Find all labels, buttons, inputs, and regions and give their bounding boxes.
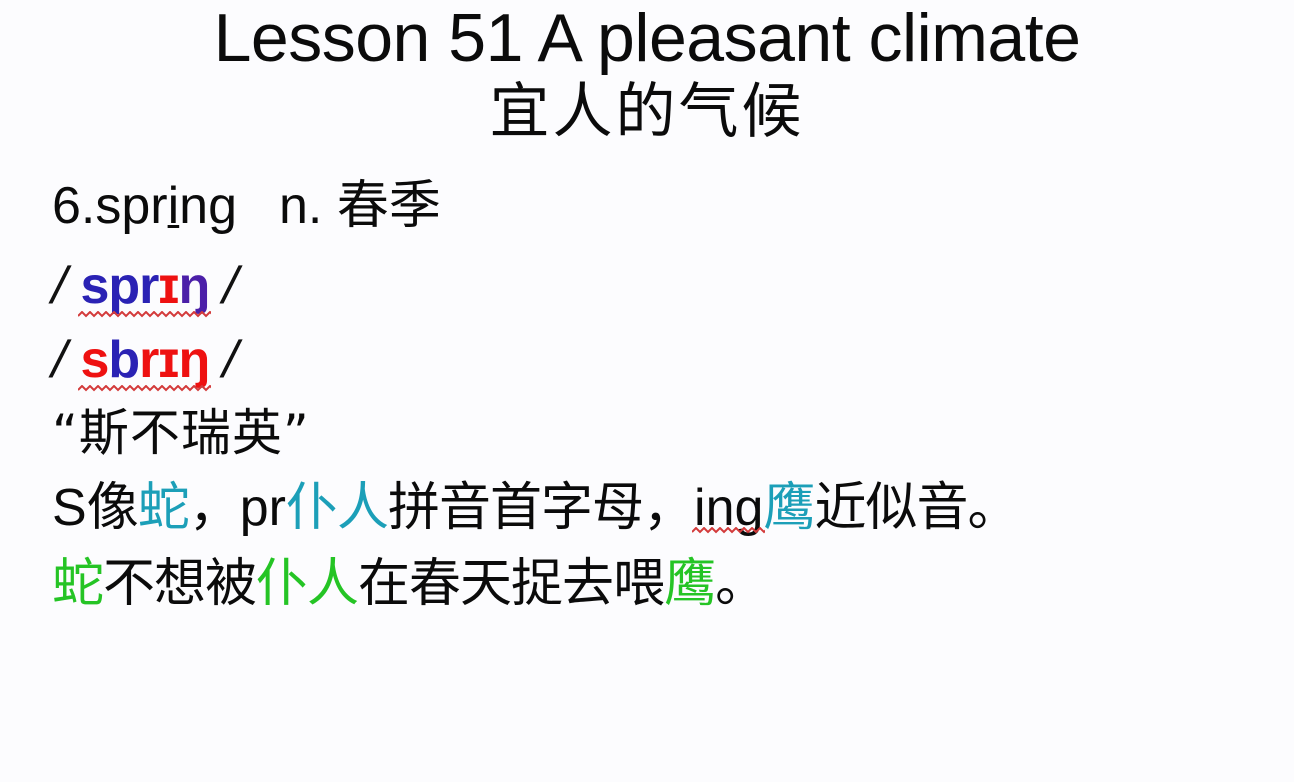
entry-definition-chinese: 春季 <box>337 176 441 236</box>
story-highlight-eagle: 鹰 <box>664 554 715 614</box>
story-period: 。 <box>715 554 766 614</box>
ipa-alt-open-slash: / <box>51 334 67 386</box>
mnemonic-text-pinyin-initials: 拼音首字母， <box>388 478 694 538</box>
mnemonic-highlight-snake: 蛇 <box>138 478 189 538</box>
story-text-2: 在春天捉去喂 <box>358 554 664 614</box>
entry-part-of-speech: n. <box>279 177 322 235</box>
mnemonic-highlight-eagle: 鹰 <box>763 478 814 538</box>
mnemonic-text-like: 像 <box>87 478 138 538</box>
ipa-seg-r: r <box>139 257 158 315</box>
ipa-seg-p: p <box>108 257 139 315</box>
body-block: 6.springn. 春季 /sprɪŋ / /sbrɪŋ / <box>0 180 1294 610</box>
story-highlight-servant: 仆人 <box>256 554 358 614</box>
ipa-alt-seg-ng: ŋ <box>178 331 209 389</box>
mnemonic-text-similar-sound: 近似音。 <box>814 478 1018 538</box>
ipa-seg-ng: ŋ <box>178 257 209 315</box>
ipa-open-slash: / <box>51 260 67 312</box>
mnemonic-line: S像蛇，pr仆人拼音首字母，ing 鹰近似音。 <box>52 482 1274 534</box>
ipa-alt-seg-i: ɪ <box>158 331 178 389</box>
ipa-alt-seg-r: r <box>139 331 158 389</box>
mnemonic-letters-pr: pr <box>240 479 286 537</box>
chinese-approximation-line: “斯不瑞英” <box>52 408 1274 458</box>
ipa-alt-seg-b: b <box>108 331 139 389</box>
ipa-alt-close-slash: / <box>222 334 238 386</box>
page-title-english: Lesson 51 A pleasant climate <box>0 4 1294 73</box>
story-line: 蛇不想被仆人在春天捉去喂鹰。 <box>52 558 1274 610</box>
vocabulary-entry-line: 6.springn. 春季 <box>52 180 1274 232</box>
mnemonic-comma-1: ， <box>189 478 240 538</box>
ipa-close-slash: / <box>222 260 238 312</box>
title-block: Lesson 51 A pleasant climate 宜人的气候 <box>0 0 1294 150</box>
ipa-seg-i: ɪ <box>158 257 178 315</box>
mnemonic-ing-wrapper: ing <box>694 482 763 534</box>
ipa-alternate-body: sbrɪŋ <box>80 334 209 386</box>
ipa-standard-body: sprɪŋ <box>80 260 209 312</box>
ipa-seg-s: s <box>80 257 108 315</box>
story-highlight-snake: 蛇 <box>52 554 103 614</box>
ipa-line-alternate: /sbrɪŋ / <box>52 334 1274 386</box>
mnemonic-letter-s: S <box>52 479 87 537</box>
entry-word-suffix: ng <box>179 177 237 235</box>
page-title-chinese: 宜人的气候 <box>0 75 1294 150</box>
entry-stressed-letter: i <box>168 177 180 235</box>
slide-root: Lesson 51 A pleasant climate 宜人的气候 6.spr… <box>0 0 1294 782</box>
mnemonic-highlight-servant: 仆人 <box>286 478 388 538</box>
story-text-1: 不想被 <box>103 554 256 614</box>
ipa-line-standard: /sprɪŋ / <box>52 260 1274 312</box>
mnemonic-letters-ing: ing <box>694 479 763 537</box>
ipa-alt-seg-s: s <box>80 331 108 389</box>
entry-word-prefix: 6.spr <box>52 177 168 235</box>
